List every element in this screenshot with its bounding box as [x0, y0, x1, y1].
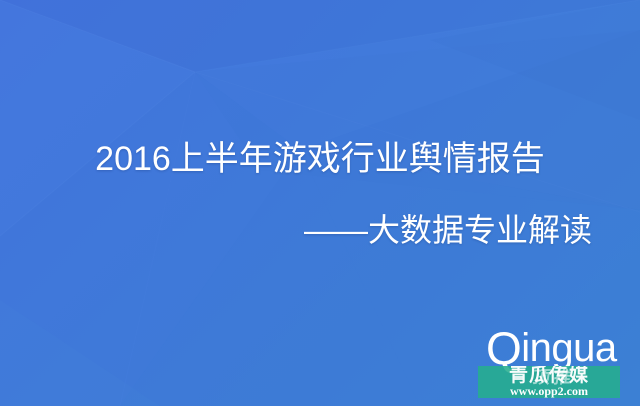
- watermark-banner: 顶推 青瓜传媒 www.opp2.com: [478, 366, 620, 398]
- page-title: 2016上半年游戏行业舆情报告: [0, 136, 640, 182]
- watermark-url: www.opp2.com: [478, 384, 620, 398]
- presentation-slide: 2016上半年游戏行业舆情报告 ——大数据专业解读 Qingua 顶推 青瓜传媒…: [0, 0, 640, 406]
- brand-logo: Qingua: [486, 326, 617, 370]
- brand-logo-text: ingua: [521, 326, 616, 370]
- page-subtitle: ——大数据专业解读: [0, 208, 640, 252]
